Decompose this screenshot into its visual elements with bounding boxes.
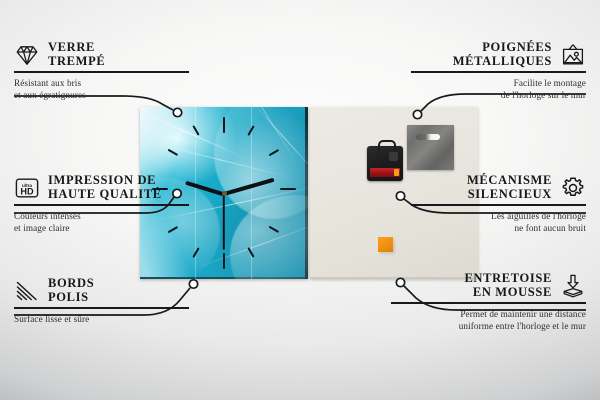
- feature-desc-line2: uniforme entre l'horloge et le mur: [391, 320, 586, 332]
- feature-desc-line1: Surface lisse et sûre: [14, 313, 189, 325]
- feature-title: SILENCIEUX: [467, 188, 552, 202]
- feature-bords-polis[interactable]: BORDS POLIS Surface lisse et sûre: [14, 277, 189, 325]
- feature-underline: [411, 71, 586, 73]
- feature-title: EN MOUSSE: [464, 286, 552, 300]
- feature-desc-line1: Couleurs intenses: [14, 210, 189, 222]
- clock-mechanism: [367, 146, 403, 181]
- connector-dot-bords-polis: [189, 280, 197, 288]
- battery: [370, 168, 400, 177]
- feature-title: POLIS: [48, 291, 94, 305]
- hanger-loop-icon: [378, 140, 396, 151]
- gear-icon: [560, 175, 586, 201]
- hanging-frame-icon: [560, 42, 586, 68]
- diamond-icon: [14, 42, 40, 68]
- feature-verre-trempe[interactable]: VERRE TREMPÉ Résistant aux bris et aux é…: [14, 41, 189, 101]
- feature-desc-line1: Résistant aux bris: [14, 77, 189, 89]
- feature-desc-line2: de l'horloge sur le mur: [411, 89, 586, 101]
- ultra-hd-icon: ultra HD: [14, 175, 40, 201]
- feature-mecanisme-silencieux[interactable]: MÉCANISME SILENCIEUX Les aiguilles de l'…: [411, 174, 586, 234]
- feature-desc-line1: Permet de maintenir une distance: [391, 308, 586, 320]
- polished-edge-icon: [14, 278, 40, 304]
- feature-title: TREMPÉ: [48, 55, 105, 69]
- feature-desc-line1: Les aiguilles de l'horloge: [411, 210, 586, 222]
- feature-underline: [14, 71, 189, 73]
- feature-entretoise-en-mousse[interactable]: ENTRETOISE EN MOUSSE Permet de maintenir…: [391, 272, 586, 332]
- feature-title: MÉTALLIQUES: [453, 55, 552, 69]
- feature-title: MÉCANISME: [467, 174, 552, 188]
- feature-title: VERRE: [48, 41, 105, 55]
- feature-desc-line2: et image claire: [14, 222, 189, 234]
- feature-desc-line2: et aux égratignures: [14, 89, 189, 101]
- metal-hanger-bracket: [407, 125, 454, 170]
- feature-title: BORDS: [48, 277, 94, 291]
- foam-spacer: [378, 237, 393, 252]
- feature-impression-haute-qualite[interactable]: ultra HD IMPRESSION DE HAUTE QUALITÉ Cou…: [14, 174, 189, 234]
- infographic-canvas: VERRE TREMPÉ Résistant aux bris et aux é…: [0, 0, 600, 400]
- ultra-hd-large-text: HD: [20, 186, 34, 196]
- feature-desc-line1: Facilite le montage: [411, 77, 586, 89]
- feature-underline: [391, 302, 586, 304]
- clock-second-hand: [223, 194, 225, 250]
- feature-title: POIGNÉES: [453, 41, 552, 55]
- feature-title: HAUTE QUALITÉ: [48, 188, 162, 202]
- feature-title: ENTRETOISE: [464, 272, 552, 286]
- foam-spacer-icon: [560, 273, 586, 299]
- feature-underline: [411, 204, 586, 206]
- feature-underline: [14, 307, 189, 309]
- feature-desc-line2: ne font aucun bruit: [411, 222, 586, 234]
- clock-center-hub: [222, 191, 227, 196]
- feature-poignees-metalliques[interactable]: POIGNÉES MÉTALLIQUES Facilite le montage…: [411, 41, 586, 101]
- feature-underline: [14, 204, 189, 206]
- feature-title: IMPRESSION DE: [48, 174, 162, 188]
